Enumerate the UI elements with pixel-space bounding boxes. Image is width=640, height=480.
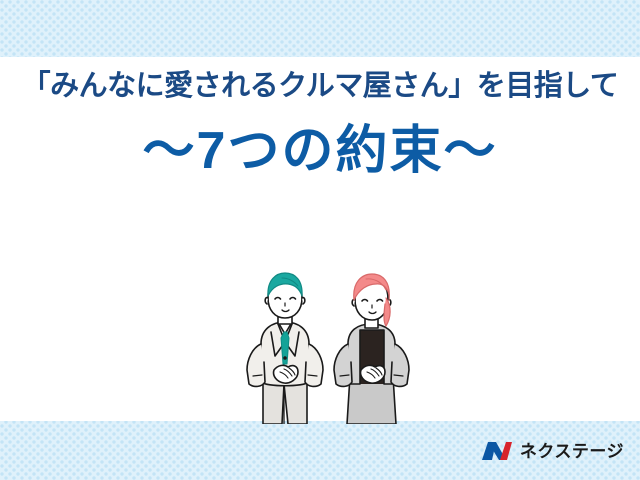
n-mark-icon [479,438,513,464]
nexstage-logo: ネクステージ [479,438,624,464]
slide-canvas: 「みんなに愛されるクルマ屋さん」を目指して 〜7つの約束〜 [0,0,640,480]
logo-wordmark: ネクステージ [520,443,624,460]
bowing-staff-illustration [238,272,428,424]
